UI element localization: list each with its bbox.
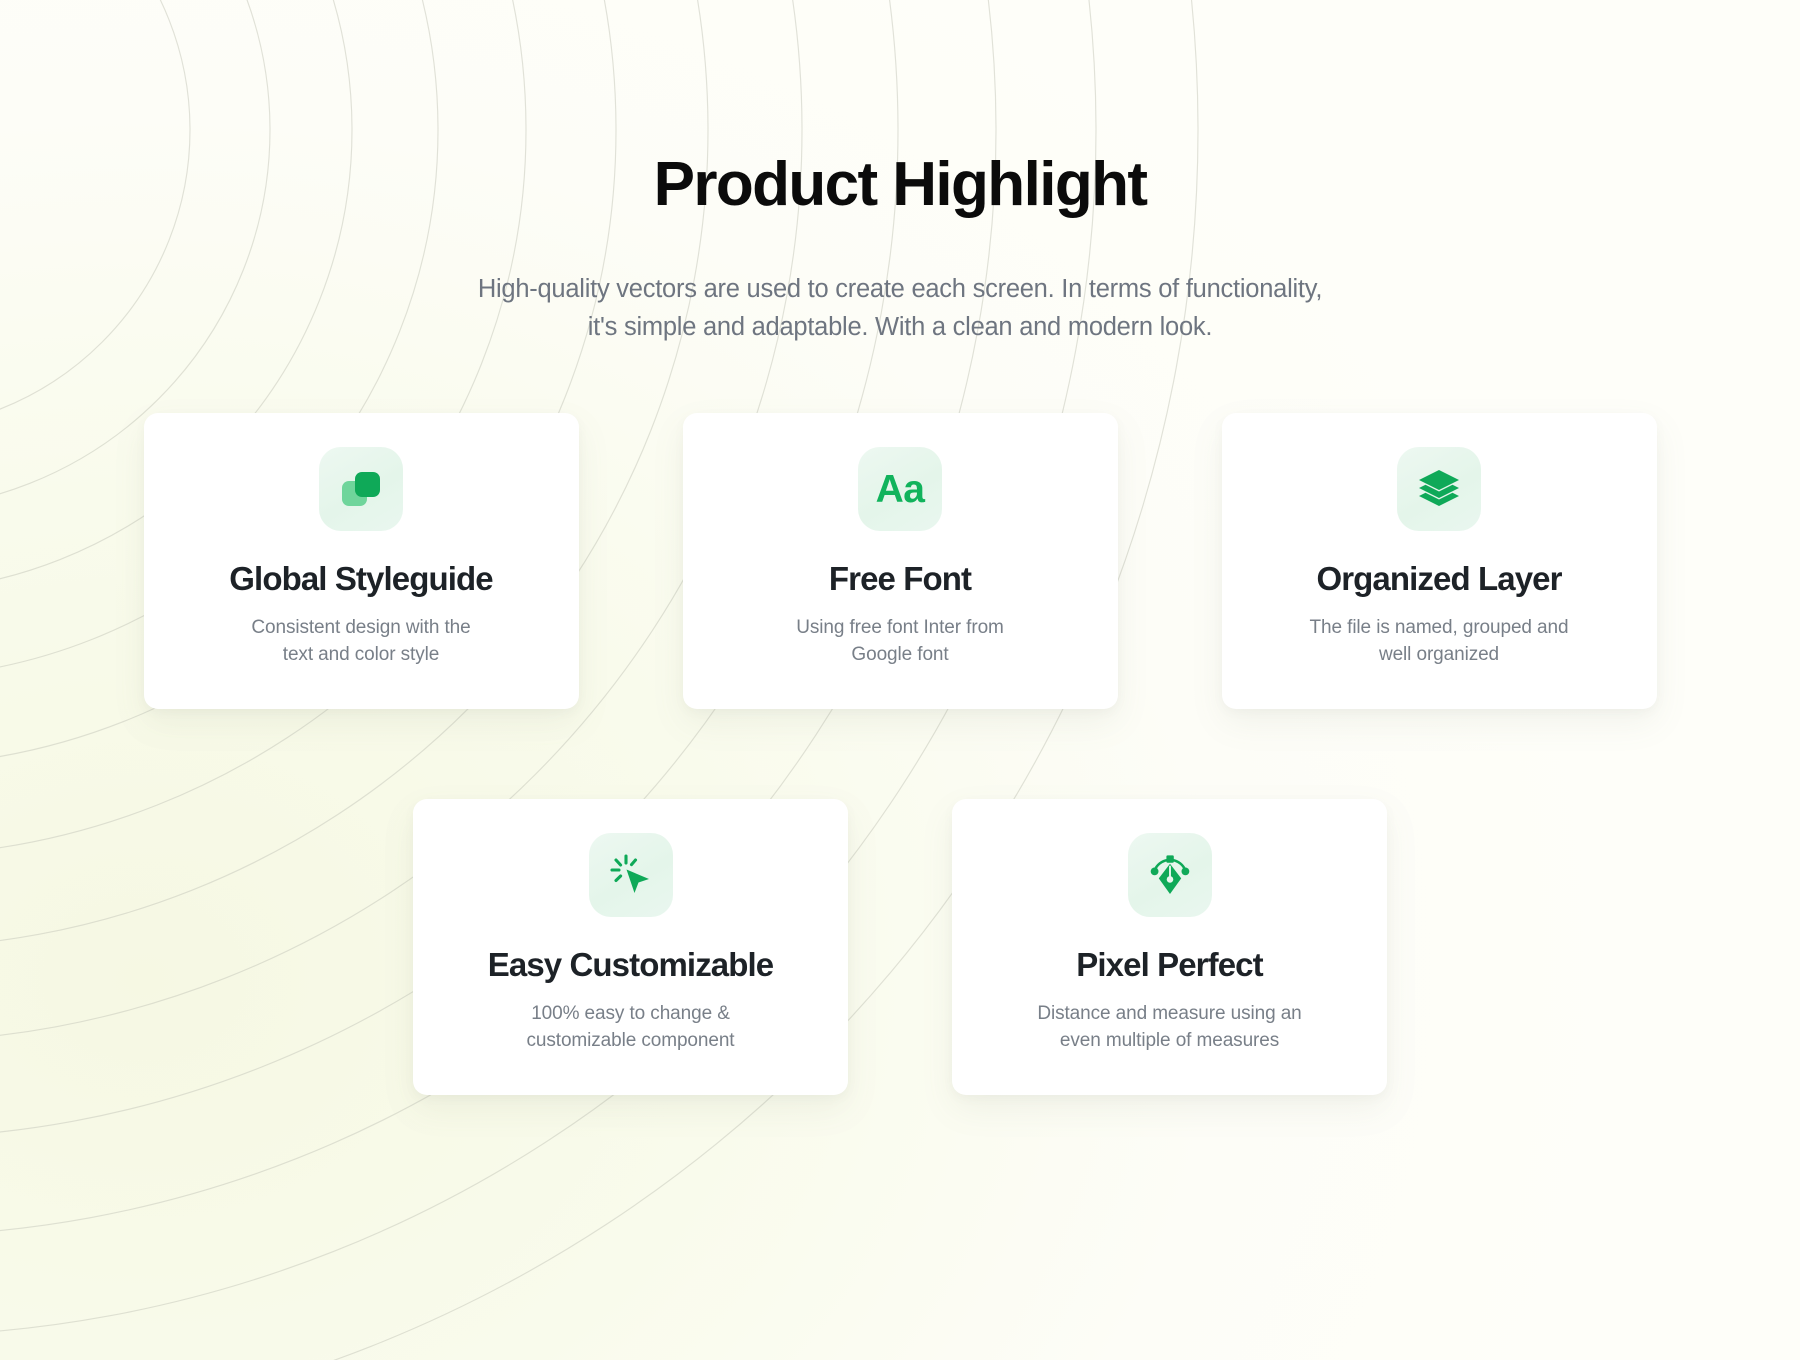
feature-card-description-line-2: even multiple of measures <box>982 1028 1357 1055</box>
stacked-squares-icon <box>338 466 384 512</box>
feature-card-description-line-1: Consistent design with the <box>174 615 549 642</box>
feature-card-description: Consistent design with the text and colo… <box>174 615 549 669</box>
typography-aa-icon: Aa <box>876 470 925 509</box>
icon-tile-easy-customizable <box>589 833 673 917</box>
feature-card-description-line-1: Distance and measure using an <box>982 1001 1357 1028</box>
page-header: Product Highlight High-quality vectors a… <box>0 0 1800 347</box>
icon-tile-global-styleguide <box>319 447 403 531</box>
pen-tool-icon <box>1147 852 1193 898</box>
feature-card-description-line-2: Google font <box>713 642 1088 669</box>
page-subtitle: High-quality vectors are used to create … <box>0 270 1800 348</box>
page-subtitle-line-2: it's simple and adaptable. With a clean … <box>0 308 1800 347</box>
click-cursor-icon <box>608 852 654 898</box>
feature-card-free-font[interactable]: Aa Free Font Using free font Inter from … <box>683 413 1118 709</box>
page-title: Product Highlight <box>0 152 1800 218</box>
icon-tile-organized-layer <box>1397 447 1481 531</box>
feature-card-easy-customizable[interactable]: Easy Customizable 100% easy to change & … <box>413 799 848 1095</box>
product-highlight-page: Product Highlight High-quality vectors a… <box>0 0 1800 1360</box>
feature-card-row-top: Global Styleguide Consistent design with… <box>0 413 1800 709</box>
feature-card-title: Pixel Perfect <box>982 947 1357 984</box>
feature-card-title: Easy Customizable <box>443 947 818 984</box>
icon-tile-pixel-perfect <box>1128 833 1212 917</box>
feature-card-description-line-1: The file is named, grouped and <box>1252 615 1627 642</box>
layers-stack-icon <box>1416 466 1462 512</box>
feature-card-description: Using free font Inter from Google font <box>713 615 1088 669</box>
feature-card-description-line-2: text and color style <box>174 642 549 669</box>
page-subtitle-line-1: High-quality vectors are used to create … <box>0 270 1800 309</box>
feature-card-title: Free Font <box>713 561 1088 598</box>
feature-card-description-line-2: well organized <box>1252 642 1627 669</box>
feature-card-organized-layer[interactable]: Organized Layer The file is named, group… <box>1222 413 1657 709</box>
feature-card-pixel-perfect[interactable]: Pixel Perfect Distance and measure using… <box>952 799 1387 1095</box>
feature-card-description: 100% easy to change & customizable compo… <box>443 1001 818 1055</box>
feature-card-description-line-2: customizable component <box>443 1028 818 1055</box>
icon-tile-free-font: Aa <box>858 447 942 531</box>
feature-card-grid: Global Styleguide Consistent design with… <box>0 413 1800 1095</box>
feature-card-global-styleguide[interactable]: Global Styleguide Consistent design with… <box>144 413 579 709</box>
feature-card-description-line-1: 100% easy to change & <box>443 1001 818 1028</box>
feature-card-description-line-1: Using free font Inter from <box>713 615 1088 642</box>
feature-card-row-bottom: Easy Customizable 100% easy to change & … <box>0 799 1800 1095</box>
feature-card-title: Organized Layer <box>1252 561 1627 598</box>
feature-card-description: The file is named, grouped and well orga… <box>1252 615 1627 669</box>
feature-card-description: Distance and measure using an even multi… <box>982 1001 1357 1055</box>
feature-card-title: Global Styleguide <box>174 561 549 598</box>
